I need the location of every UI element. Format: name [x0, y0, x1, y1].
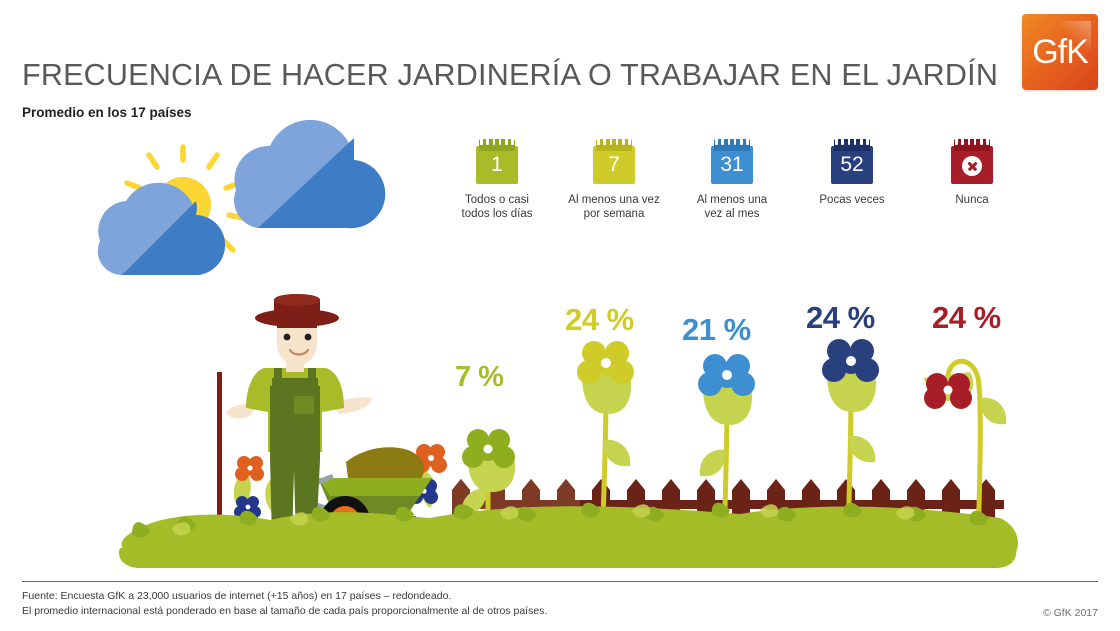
footer-source-line1: Fuente: Encuesta GfK a 23,000 usuarios d…: [22, 589, 547, 604]
footer-divider: [22, 581, 1098, 582]
value-label-2: 24 %: [565, 302, 634, 338]
value-label-4: 24 %: [806, 300, 875, 336]
cloud-large: [234, 120, 385, 228]
value-label-3: 21 %: [682, 312, 751, 348]
infographic-page: GfK FRECUENCIA DE HACER JARDINERÍA O TRA…: [0, 0, 1120, 631]
value-label-1: 7 %: [455, 361, 503, 394]
footer-copyright: © GfK 2017: [0, 607, 1098, 619]
garden-illustration: [0, 0, 1120, 580]
value-label-5: 24 %: [932, 300, 1001, 336]
